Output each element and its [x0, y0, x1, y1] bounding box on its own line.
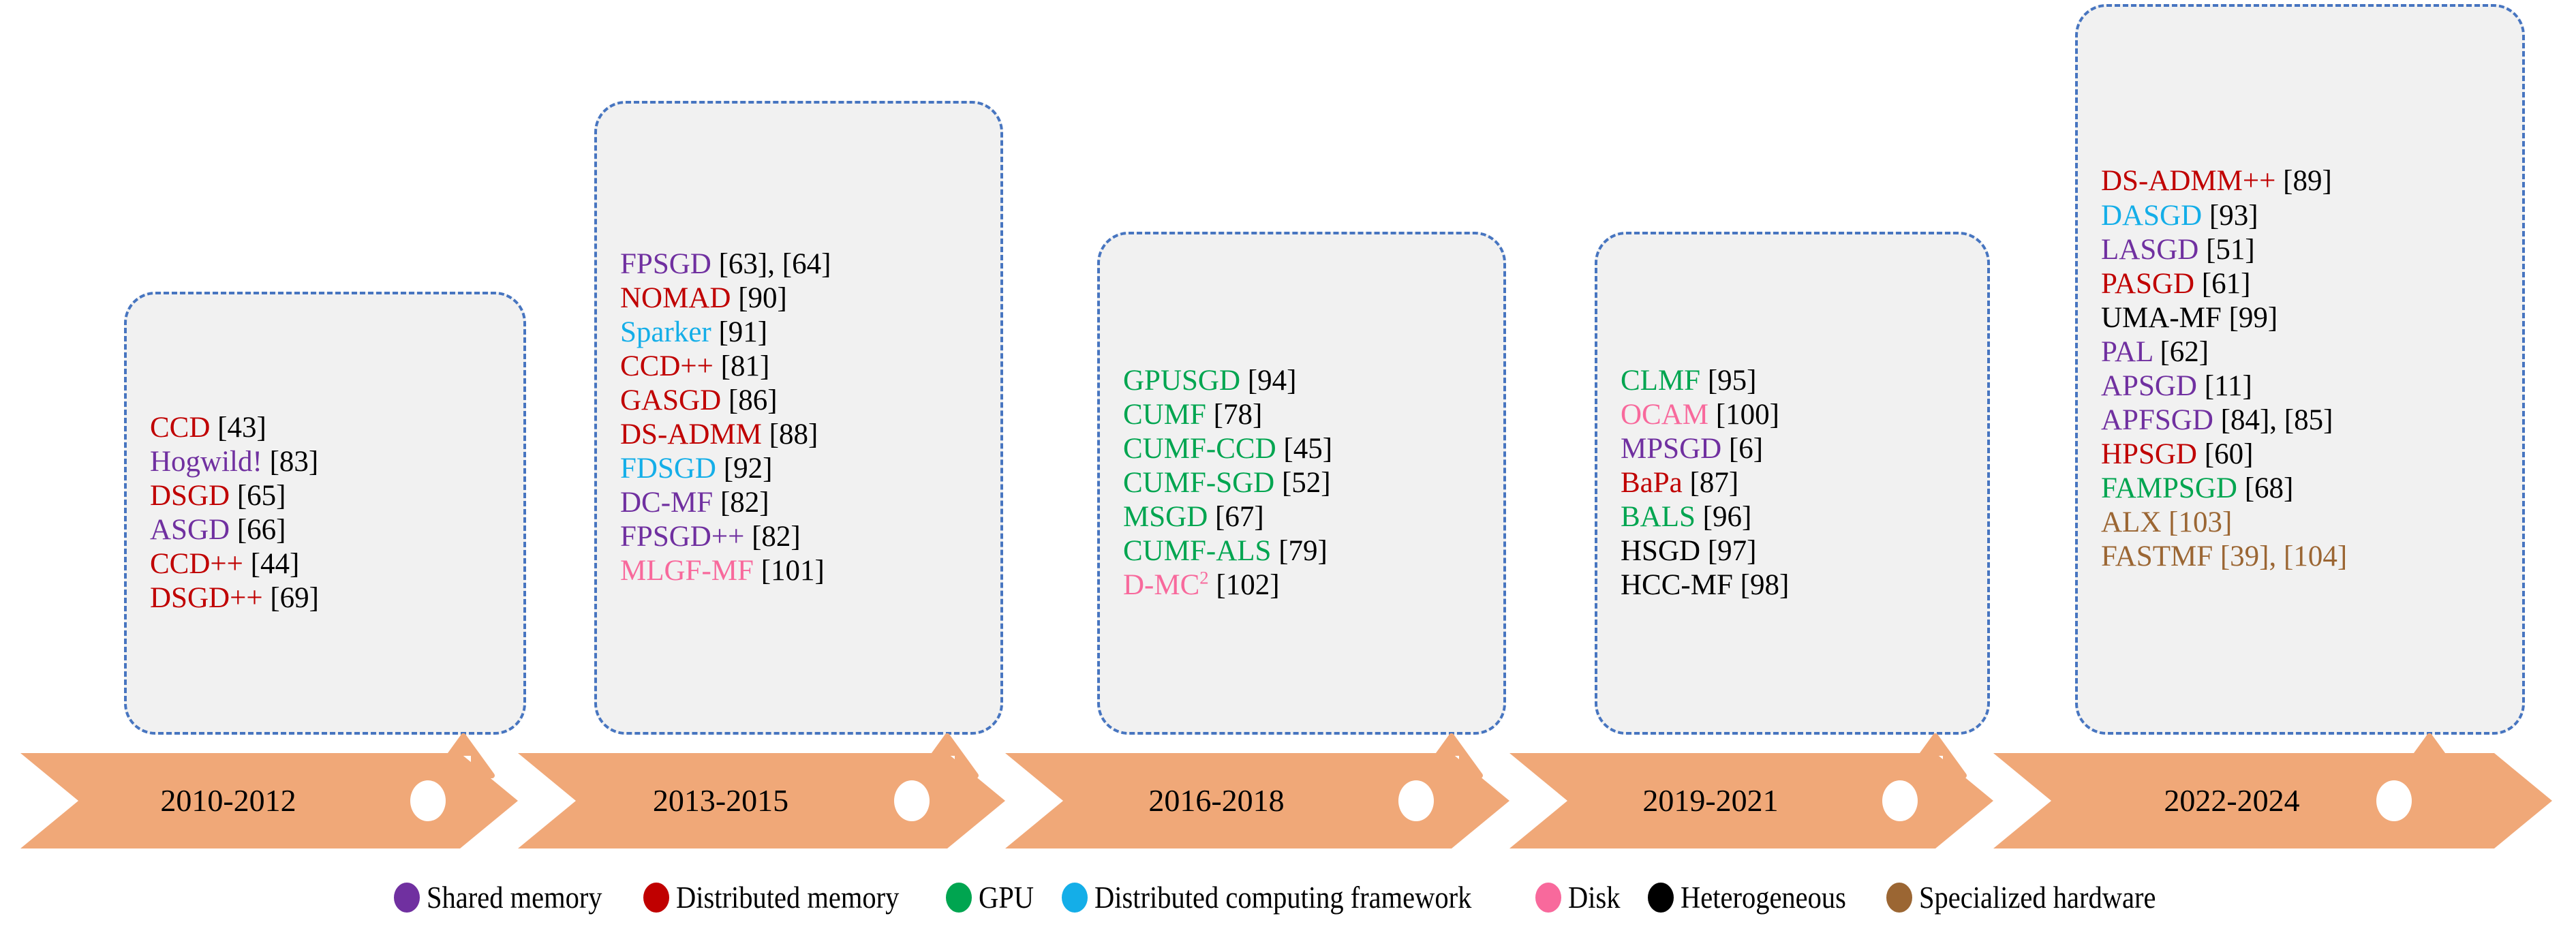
era-entry: DSGD [65]: [150, 479, 500, 513]
era-entry: Sparker [91]: [620, 316, 977, 350]
entry-name: OCAM: [1621, 399, 1708, 431]
timeline-dot-2013-2015: [894, 780, 930, 821]
timeline-dot-2016-2018: [1398, 780, 1434, 821]
era-entry: PASGD [61]: [2101, 267, 2499, 301]
entry-references: [87]: [1690, 467, 1739, 499]
era-entry: MSGD [67]: [1123, 500, 1480, 534]
entry-name: APSGD: [2101, 370, 2197, 402]
entry-references: [61]: [2202, 268, 2251, 300]
era-entry: DSGD++ [69]: [150, 581, 500, 615]
entry-references: [78]: [1214, 399, 1263, 431]
legend-item-shared_memory: Shared memory: [394, 880, 622, 915]
entry-references: [45]: [1283, 433, 1332, 465]
era-entry: MLGF-MF [101]: [620, 554, 977, 588]
entry-references: [81]: [721, 350, 770, 382]
era-entry: GPUSGD [94]: [1123, 364, 1480, 398]
entry-references: [65]: [237, 480, 286, 512]
entry-name: HCC-MF: [1621, 569, 1733, 601]
year-label-2013-2015: 2013-2015: [612, 782, 830, 819]
entry-references: [62]: [2160, 336, 2209, 368]
era-entry: CLMF [95]: [1621, 364, 1964, 398]
era-box-2016-2018: GPUSGD [94]CUMF [78]CUMF-CCD [45]CUMF-SG…: [1097, 232, 1506, 735]
legend-item-gpu: GPU: [946, 880, 1040, 915]
legend-label: Disk: [1568, 880, 1621, 915]
year-label-2010-2012: 2010-2012: [119, 782, 337, 819]
legend-label: Distributed memory: [676, 880, 899, 915]
entry-references: [43]: [217, 412, 266, 444]
entry-name: DC-MF: [620, 487, 713, 519]
entry-references: [6]: [1729, 433, 1763, 465]
entry-name: GASGD: [620, 384, 721, 416]
timeline-dot-2010-2012: [410, 780, 446, 821]
legend-dot-icon: [1062, 883, 1088, 913]
entry-name: HSGD: [1621, 535, 1700, 567]
era-entry: UMA-MF [99]: [2101, 301, 2499, 335]
entry-references: [82]: [752, 521, 801, 553]
entry-references: [63], [64]: [719, 248, 831, 280]
entry-name: GPUSGD: [1123, 365, 1240, 397]
entry-name: D-MC: [1123, 569, 1199, 601]
era-entry: HCC-MF [98]: [1621, 568, 1964, 602]
entry-name: MLGF-MF: [620, 555, 754, 587]
entry-name: PAL: [2101, 336, 2153, 368]
entry-name: CLMF: [1621, 365, 1700, 397]
entry-references: [51]: [2206, 234, 2255, 266]
era-entry: CUMF [78]: [1123, 398, 1480, 432]
entry-references: [83]: [270, 446, 319, 478]
era-entry: D-MC2 [102]: [1123, 568, 1480, 602]
era-entry: ASGD [66]: [150, 513, 500, 547]
year-label-2016-2018: 2016-2018: [1107, 782, 1325, 819]
entry-name: BaPa: [1621, 467, 1683, 499]
entry-name: CCD: [150, 412, 210, 444]
era-entry: HSGD [97]: [1621, 534, 1964, 568]
entry-references: [101]: [761, 555, 825, 587]
entry-references: [90]: [738, 282, 787, 314]
entry-name: FAMPSGD: [2101, 472, 2237, 504]
legend-label: Distributed computing framework: [1094, 880, 1471, 915]
entry-name: Sparker: [620, 316, 711, 348]
era-entry: MPSGD [6]: [1621, 432, 1964, 466]
entry-references: [68]: [2245, 472, 2294, 504]
legend-dot-icon: [1535, 883, 1561, 913]
era-entry: BaPa [87]: [1621, 466, 1964, 500]
entry-references: [69]: [270, 582, 319, 614]
timeline-dot-2022-2024: [2376, 780, 2412, 821]
entry-references: [98]: [1741, 569, 1790, 601]
entry-references: [84], [85]: [2221, 404, 2333, 436]
legend-item-distributed_memory: Distributed memory: [643, 880, 924, 915]
entry-name: CUMF-CCD: [1123, 433, 1276, 465]
entry-name: HPSGD: [2101, 438, 2197, 470]
entry-name: CUMF: [1123, 399, 1206, 431]
entry-name: MPSGD: [1621, 433, 1721, 465]
entry-references: [67]: [1215, 501, 1264, 533]
legend-label: GPU: [979, 880, 1034, 915]
year-label-2019-2021: 2019-2021: [1601, 782, 1820, 819]
entry-name: DSGD++: [150, 582, 263, 614]
era-box-2019-2021: CLMF [95]OCAM [100]MPSGD [6]BaPa [87]BAL…: [1595, 232, 1990, 735]
entry-references: [39], [104]: [2220, 540, 2347, 572]
legend-item-heterogeneous: Heterogeneous: [1648, 880, 1865, 915]
era-box-2022-2024: DS-ADMM++ [89]DASGD [93]LASGD [51]PASGD …: [2075, 4, 2525, 735]
era-entry: CUMF-ALS [79]: [1123, 534, 1480, 568]
era-entry: APSGD [11]: [2101, 369, 2499, 403]
legend-dot-icon: [1648, 883, 1674, 913]
entry-name: ALX: [2101, 506, 2161, 538]
era-box-2013-2015: FPSGD [63], [64]NOMAD [90]Sparker [91]CC…: [594, 101, 1003, 735]
entry-references: [60]: [2205, 438, 2254, 470]
entry-references: [99]: [2229, 302, 2278, 334]
era-entry: OCAM [100]: [1621, 398, 1964, 432]
entry-name: BALS: [1621, 501, 1696, 533]
era-entry: APFSGD [84], [85]: [2101, 403, 2499, 438]
entry-name: CUMF-SGD: [1123, 467, 1274, 499]
entry-references: [11]: [2205, 370, 2252, 402]
era-entry: ALX [103]: [2101, 506, 2499, 540]
entry-references: [97]: [1708, 535, 1757, 567]
entry-references: [93]: [2209, 200, 2258, 232]
entry-name: CCD++: [150, 548, 243, 580]
entry-name: LASGD: [2101, 234, 2198, 266]
era-entry: GASGD [86]: [620, 384, 977, 418]
entry-references: [103]: [2168, 506, 2232, 538]
era-entry: DC-MF [82]: [620, 486, 977, 520]
entry-references: [91]: [718, 316, 767, 348]
entry-name: UMA-MF: [2101, 302, 2222, 334]
entry-name: CCD++: [620, 350, 714, 382]
era-entry: FPSGD [63], [64]: [620, 247, 977, 281]
year-label-2022-2024: 2022-2024: [2123, 782, 2341, 819]
entry-references: [44]: [251, 548, 300, 580]
entry-name: PASGD: [2101, 268, 2194, 300]
legend-dot-icon: [946, 883, 972, 913]
legend: Shared memoryDistributed memoryGPUDistri…: [0, 874, 2576, 921]
entry-references: [86]: [729, 384, 778, 416]
entry-references: [94]: [1248, 365, 1297, 397]
entry-name: DSGD: [150, 480, 230, 512]
legend-dot-icon: [643, 883, 669, 913]
era-entry: DS-ADMM++ [89]: [2101, 164, 2499, 198]
entry-name: FDSGD: [620, 453, 716, 485]
entry-name: DS-ADMM++: [2101, 165, 2275, 197]
era-entry: FASTMF [39], [104]: [2101, 540, 2499, 574]
era-entry: CCD [43]: [150, 411, 500, 445]
era-box-2010-2012: CCD [43]Hogwild! [83]DSGD [65]ASGD [66]C…: [124, 292, 526, 735]
era-boxes-layer: CCD [43]Hogwild! [83]DSGD [65]ASGD [66]C…: [0, 0, 2576, 777]
era-entry: NOMAD [90]: [620, 281, 977, 316]
era-entry: LASGD [51]: [2101, 233, 2499, 267]
era-entry: CCD++ [44]: [150, 547, 500, 581]
entry-references: [52]: [1282, 467, 1331, 499]
era-entry: FPSGD++ [82]: [620, 520, 977, 554]
era-entry: CCD++ [81]: [620, 350, 977, 384]
era-entry: DASGD [93]: [2101, 199, 2499, 233]
entry-name: FPSGD: [620, 248, 711, 280]
era-entry: CUMF-SGD [52]: [1123, 466, 1480, 500]
entry-references: [96]: [1703, 501, 1752, 533]
legend-item-distributed_computing_framework: Distributed computing framework: [1062, 880, 1514, 915]
entry-references: [92]: [724, 453, 773, 485]
legend-label: Heterogeneous: [1681, 880, 1846, 915]
legend-label: Specialized hardware: [1919, 880, 2156, 915]
entry-name: FASTMF: [2101, 540, 2213, 572]
entry-references: [95]: [1708, 365, 1757, 397]
era-entry: PAL [62]: [2101, 335, 2499, 369]
entry-references: [100]: [1716, 399, 1779, 431]
entry-name: APFSGD: [2101, 404, 2213, 436]
entry-name: CUMF-ALS: [1123, 535, 1271, 567]
entry-references: [88]: [769, 418, 818, 450]
entry-name: NOMAD: [620, 282, 731, 314]
entry-name: MSGD: [1123, 501, 1208, 533]
legend-item-specialized_hardware: Specialized hardware: [1886, 880, 2182, 915]
legend-dot-icon: [1886, 883, 1912, 913]
entry-name: Hogwild!: [150, 446, 262, 478]
era-entry: BALS [96]: [1621, 500, 1964, 534]
era-entry: DS-ADMM [88]: [620, 418, 977, 452]
entry-name: ASGD: [150, 514, 230, 546]
era-entry: CUMF-CCD [45]: [1123, 432, 1480, 466]
entry-references: [79]: [1278, 535, 1328, 567]
entry-superscript: 2: [1199, 568, 1208, 588]
entry-references: [66]: [237, 514, 286, 546]
entry-name: FPSGD++: [620, 521, 744, 553]
era-entry: Hogwild! [83]: [150, 445, 500, 479]
era-entry: FDSGD [92]: [620, 452, 977, 486]
entry-references: [102]: [1216, 569, 1279, 601]
entry-references: [89]: [2283, 165, 2332, 197]
entry-name: DS-ADMM: [620, 418, 762, 450]
legend-dot-icon: [394, 883, 420, 913]
legend-item-disk: Disk: [1535, 880, 1626, 915]
entry-references: [82]: [720, 487, 769, 519]
timeline-dot-2019-2021: [1882, 780, 1918, 821]
era-entry: FAMPSGD [68]: [2101, 472, 2499, 506]
legend-label: Shared memory: [427, 880, 602, 915]
entry-name: DASGD: [2101, 200, 2202, 232]
era-entry: HPSGD [60]: [2101, 438, 2499, 472]
